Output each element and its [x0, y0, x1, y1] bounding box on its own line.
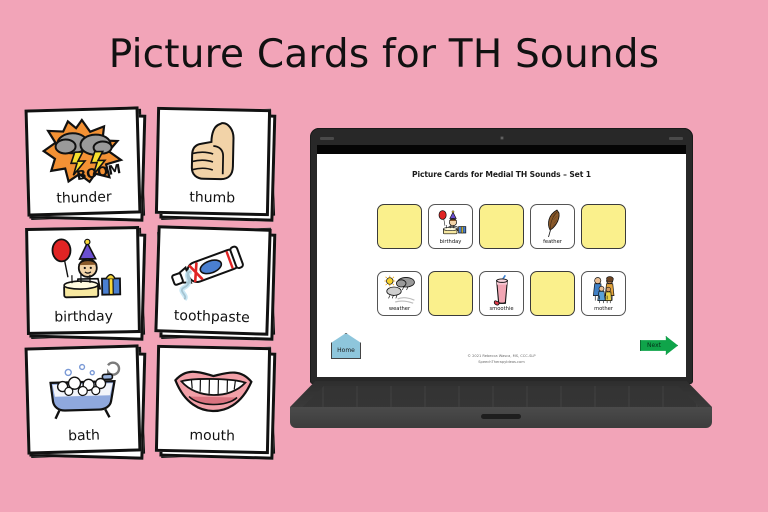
smoothie-glass-straw-icon	[480, 272, 523, 307]
slide-card-label: birthday	[440, 240, 462, 248]
laptop-lid: Picture Cards for Medial TH Sounds – Set…	[310, 128, 693, 384]
slide-card-label: mother	[594, 307, 613, 315]
slide-card-feather[interactable]: feather	[530, 204, 575, 249]
flashcard-birthday[interactable]: birthday	[26, 227, 140, 334]
card-face: thumb	[155, 107, 271, 216]
card-face: BOOM thunder	[25, 106, 142, 216]
laptop-trackpad-notch	[481, 414, 521, 419]
slide-card-label: smoothie	[489, 307, 513, 315]
laptop-screen: Picture Cards for Medial TH Sounds – Set…	[317, 154, 686, 377]
flashcard-thunder[interactable]: BOOM thunder	[26, 108, 140, 215]
picture-card-grid: birthday feather	[377, 204, 627, 316]
next-button-label: Next	[641, 342, 661, 349]
flashcard-label: thumb	[189, 190, 235, 208]
flashcard-label: thunder	[56, 190, 112, 209]
thumbs-up-hand-icon	[158, 110, 268, 192]
flashcard-label: toothpaste	[174, 308, 250, 328]
slide-card-birthday[interactable]: birthday	[428, 204, 473, 249]
lid-vent-right-icon	[669, 137, 683, 140]
thunder-cloud-boom-icon: BOOM	[28, 110, 138, 193]
next-button[interactable]: Next	[640, 336, 678, 355]
presentation-slide: Picture Cards for Medial TH Sounds – Set…	[317, 154, 686, 377]
screen-top-bar	[317, 145, 686, 154]
laptop-keys	[290, 386, 712, 407]
slide-card-blank-5[interactable]	[530, 271, 575, 316]
card-face: toothpaste	[154, 225, 271, 336]
flashcard-thumb[interactable]: thumb	[156, 108, 270, 215]
slide-footer: © 2021 Rebecca Wasca, MS, CCC-SLP Speech…	[317, 354, 686, 365]
birthday-cake-child-icon	[28, 229, 137, 310]
slide-card-label: feather	[543, 240, 562, 248]
flashcard-label: mouth	[189, 428, 235, 446]
webcam-icon	[500, 136, 504, 140]
card-face: birthday	[25, 226, 141, 335]
page-title: Picture Cards for TH Sounds	[0, 32, 768, 77]
smiling-mouth-teeth-icon	[158, 348, 268, 430]
toothpaste-tube-icon	[158, 228, 268, 311]
flashcard-label: birthday	[54, 309, 113, 327]
website-line: SpeechTherapyIdeas.com	[317, 360, 686, 365]
slide-card-weather[interactable]: weather	[377, 271, 422, 316]
slide-title: Picture Cards for Medial TH Sounds – Set…	[317, 170, 686, 179]
slide-card-label: weather	[389, 307, 410, 315]
slide-card-smoothie[interactable]: smoothie	[479, 271, 524, 316]
sun-clouds-rain-icon	[378, 272, 421, 307]
flashcard-bath[interactable]: bath	[26, 346, 140, 453]
family-group-icon	[582, 272, 625, 307]
laptop-mockup: Picture Cards for Medial TH Sounds – Set…	[290, 128, 712, 428]
birthday-cake-child-icon	[429, 205, 472, 240]
card-face: mouth	[155, 345, 271, 454]
bathtub-bubbles-icon	[28, 348, 138, 431]
slide-card-blank-4[interactable]	[428, 271, 473, 316]
slide-card-mother[interactable]: mother	[581, 271, 626, 316]
flashcard-label: bath	[68, 428, 100, 446]
flashcard-mouth[interactable]: mouth	[156, 346, 270, 453]
lid-vent-left-icon	[320, 137, 334, 140]
slide-card-blank-2[interactable]	[479, 204, 524, 249]
slide-card-blank-3[interactable]	[581, 204, 626, 249]
feather-quill-icon	[531, 205, 574, 240]
slide-card-blank-1[interactable]	[377, 204, 422, 249]
flashcard-gallery: BOOM thunder thumb	[26, 108, 276, 453]
flashcard-toothpaste[interactable]: toothpaste	[156, 227, 270, 334]
card-face: bath	[25, 344, 142, 454]
